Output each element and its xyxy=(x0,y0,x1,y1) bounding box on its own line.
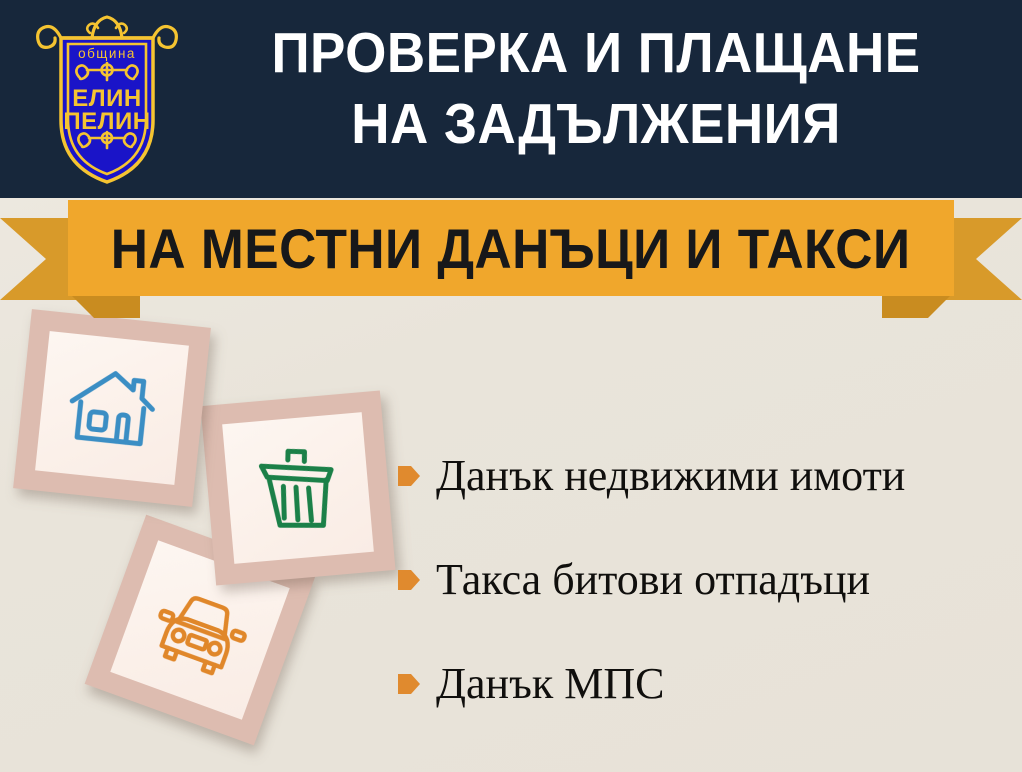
poster-canvas: община ЕЛИН ПЕЛИН ПРОВЕРКА И ПЛАЩАНЕ НА … xyxy=(0,0,1022,772)
crest-shield-icon: община ЕЛИН ПЕЛИН xyxy=(36,8,178,188)
stamp-card-property xyxy=(13,309,211,507)
list-item[interactable]: Данък МПС xyxy=(398,632,1008,736)
ribbon-label: НА МЕСТНИ ДАНЪЦИ И ТАКСИ xyxy=(111,216,911,281)
list-item-label: Такса битови отпадъци xyxy=(436,558,870,602)
municipality-crest-logo: община ЕЛИН ПЕЛИН xyxy=(36,8,178,188)
list-item-label: Данък МПС xyxy=(436,662,664,706)
list-item[interactable]: Данък недвижими имоти xyxy=(398,424,1008,528)
crest-municipality-label: община xyxy=(78,46,136,61)
subtitle-ribbon: НА МЕСТНИ ДАНЪЦИ И ТАКСИ xyxy=(0,196,1022,308)
stamp-paper xyxy=(222,412,374,564)
stamp-card-waste xyxy=(200,390,395,585)
house-icon xyxy=(59,355,165,461)
car-front-icon xyxy=(138,568,261,691)
ribbon-band: НА МЕСТНИ ДАНЪЦИ И ТАКСИ xyxy=(68,200,954,296)
poster-title-line-1: ПРОВЕРКА И ПЛАЩАНЕ xyxy=(215,18,978,89)
poster-title: ПРОВЕРКА И ПЛАЩАНЕ НА ЗАДЪЛЖЕНИЯ xyxy=(186,18,1006,161)
crest-name-line2: ПЕЛИН xyxy=(63,108,150,135)
services-list: Данък недвижими имоти Такса битови отпад… xyxy=(398,424,1008,736)
list-item-label: Данък недвижими имоти xyxy=(436,454,905,498)
stamp-paper xyxy=(35,331,189,485)
list-item[interactable]: Такса битови отпадъци xyxy=(398,528,1008,632)
poster-title-line-2: НА ЗАДЪЛЖЕНИЯ xyxy=(215,89,978,160)
arrow-right-bullet-icon xyxy=(398,672,420,696)
arrow-right-bullet-icon xyxy=(398,464,420,488)
trash-bin-icon xyxy=(246,436,350,540)
arrow-right-bullet-icon xyxy=(398,568,420,592)
